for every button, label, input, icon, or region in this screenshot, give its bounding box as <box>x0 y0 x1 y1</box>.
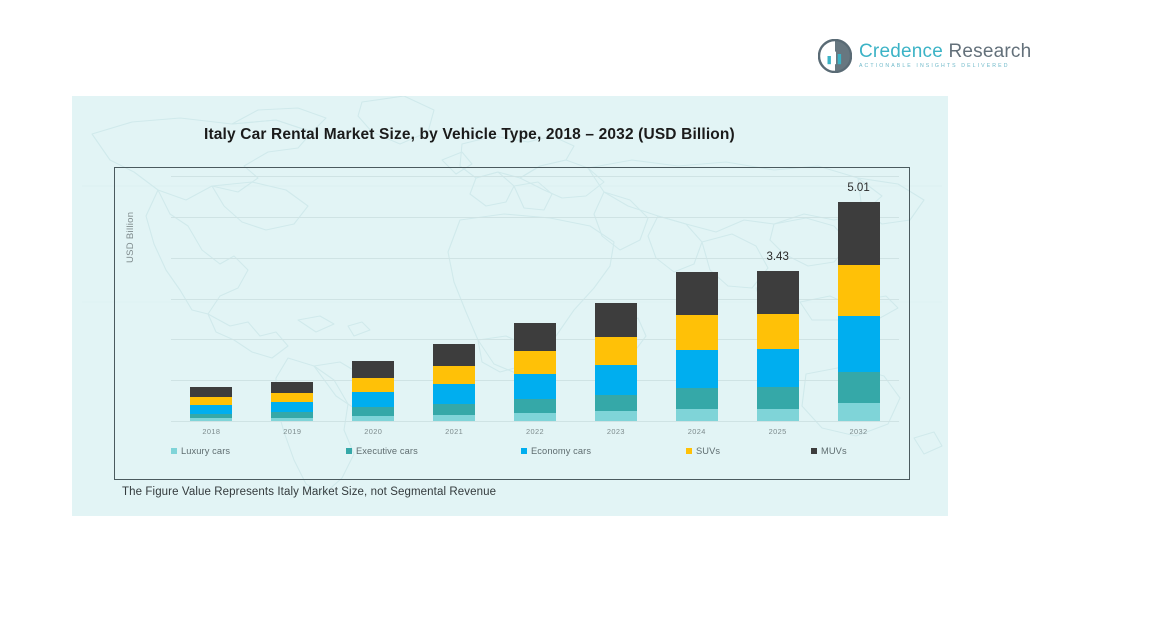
bar-segment-luxury-cars[interactable] <box>190 418 232 421</box>
legend-swatch-icon <box>171 448 177 454</box>
chart-panel: Italy Car Rental Market Size, by Vehicle… <box>72 96 948 516</box>
bar-segment-luxury-cars[interactable] <box>676 409 718 421</box>
x-axis-tick-2023: 2023 <box>576 427 656 436</box>
bar-group[interactable]: 2024 <box>676 176 718 421</box>
bar-segment-suvs[interactable] <box>514 351 556 374</box>
bar-segment-economy-cars[interactable] <box>514 374 556 399</box>
bar-segment-luxury-cars[interactable] <box>595 411 637 421</box>
brand-logo: Credence Research Actionable Insights De… <box>818 36 1018 76</box>
bar-segment-executive-cars[interactable] <box>514 399 556 413</box>
legend-label: SUVs <box>696 446 720 456</box>
x-axis-tick-2020: 2020 <box>333 427 413 436</box>
bar-segment-economy-cars[interactable] <box>838 316 880 372</box>
chart-legend: Luxury carsExecutive carsEconomy carsSUV… <box>171 446 911 466</box>
legend-swatch-icon <box>811 448 817 454</box>
bar-segment-muvs[interactable] <box>838 202 880 265</box>
y-axis-label: USD Billion <box>125 212 136 263</box>
bar-segment-muvs[interactable] <box>433 344 475 366</box>
legend-swatch-icon <box>521 448 527 454</box>
bar-segment-economy-cars[interactable] <box>595 365 637 395</box>
stacked-bar[interactable] <box>514 323 556 421</box>
bar-segment-executive-cars[interactable] <box>757 387 799 408</box>
bar-value-label: 5.01 <box>819 182 899 194</box>
logo-name-credence: Credence <box>859 41 943 62</box>
bar-segment-suvs[interactable] <box>757 314 799 349</box>
x-axis-tick-2018: 2018 <box>171 427 251 436</box>
bar-segment-economy-cars[interactable] <box>352 392 394 407</box>
bar-segment-muvs[interactable] <box>757 271 799 314</box>
bar-segment-suvs[interactable] <box>190 397 232 405</box>
bar-segment-muvs[interactable] <box>676 272 718 315</box>
gridline <box>171 421 899 422</box>
legend-item-luxury-cars[interactable]: Luxury cars <box>171 446 230 456</box>
legend-swatch-icon <box>686 448 692 454</box>
bar-group[interactable]: 2019 <box>271 176 313 421</box>
bar-segment-muvs[interactable] <box>190 387 232 397</box>
stacked-bar[interactable] <box>190 387 232 421</box>
bar-segment-suvs[interactable] <box>433 366 475 384</box>
stacked-bar[interactable] <box>352 361 394 421</box>
bar-segment-luxury-cars[interactable] <box>757 409 799 421</box>
legend-label: MUVs <box>821 446 847 456</box>
bar-segment-luxury-cars[interactable] <box>514 413 556 421</box>
bar-segment-executive-cars[interactable] <box>676 388 718 409</box>
x-axis-tick-2019: 2019 <box>252 427 332 436</box>
stacked-bar[interactable] <box>433 344 475 421</box>
bar-segment-economy-cars[interactable] <box>190 405 232 414</box>
bar-segment-luxury-cars[interactable] <box>433 415 475 421</box>
stacked-bar[interactable] <box>757 271 799 421</box>
bar-segment-luxury-cars[interactable] <box>352 416 394 421</box>
x-axis-tick-2024: 2024 <box>657 427 737 436</box>
stacked-bar[interactable] <box>676 272 718 421</box>
bar-segment-luxury-cars[interactable] <box>838 403 880 421</box>
bar-segment-muvs[interactable] <box>595 303 637 337</box>
legend-label: Economy cars <box>531 446 591 456</box>
x-axis-tick-2021: 2021 <box>414 427 494 436</box>
bar-group[interactable]: 2022 <box>514 176 556 421</box>
bar-segment-muvs[interactable] <box>352 361 394 379</box>
legend-swatch-icon <box>346 448 352 454</box>
bar-segment-muvs[interactable] <box>271 382 313 393</box>
bar-segment-suvs[interactable] <box>838 265 880 316</box>
bar-segment-economy-cars[interactable] <box>271 402 313 412</box>
bar-group[interactable]: 2023 <box>595 176 637 421</box>
legend-item-muvs[interactable]: MUVs <box>811 446 847 456</box>
x-axis-tick-2022: 2022 <box>495 427 575 436</box>
bar-segment-executive-cars[interactable] <box>838 372 880 403</box>
legend-item-suvs[interactable]: SUVs <box>686 446 720 456</box>
bar-group[interactable]: 2021 <box>433 176 475 421</box>
bar-group[interactable]: 2020 <box>352 176 394 421</box>
credence-bar-chart-icon <box>818 39 852 73</box>
stacked-bar[interactable] <box>838 202 880 421</box>
bar-segment-luxury-cars[interactable] <box>271 418 313 421</box>
logo-tagline: Actionable Insights Delivered <box>859 64 1031 69</box>
x-axis-tick-2032: 2032 <box>819 427 899 436</box>
bar-segment-economy-cars[interactable] <box>433 384 475 404</box>
bar-segment-suvs[interactable] <box>676 315 718 350</box>
bar-segment-executive-cars[interactable] <box>595 395 637 412</box>
chart-footnote: The Figure Value Represents Italy Market… <box>122 486 496 498</box>
bar-segment-suvs[interactable] <box>271 393 313 402</box>
logo-name-research: Research <box>943 41 1031 62</box>
bar-group[interactable]: 3.432025 <box>757 176 799 421</box>
bar-segment-muvs[interactable] <box>514 323 556 351</box>
x-axis-tick-2025: 2025 <box>738 427 818 436</box>
logo-wordmark: Credence Research Actionable Insights De… <box>859 42 1031 69</box>
bar-value-label: 3.43 <box>738 251 818 263</box>
chart-frame: USD Billion 2018201920202021202220232024… <box>114 167 910 480</box>
bar-group[interactable]: 5.012032 <box>838 176 880 421</box>
legend-item-executive-cars[interactable]: Executive cars <box>346 446 418 456</box>
bar-segment-executive-cars[interactable] <box>352 407 394 416</box>
bar-segment-executive-cars[interactable] <box>433 404 475 415</box>
logo-company-name: Credence Research <box>859 42 1031 61</box>
legend-label: Luxury cars <box>181 446 230 456</box>
stacked-bar[interactable] <box>271 382 313 421</box>
bar-segment-economy-cars[interactable] <box>757 349 799 387</box>
chart-title: Italy Car Rental Market Size, by Vehicle… <box>204 126 735 144</box>
bar-segment-economy-cars[interactable] <box>676 350 718 388</box>
bar-segment-suvs[interactable] <box>595 337 637 365</box>
stacked-bar[interactable] <box>595 303 637 421</box>
plot-area: 20182019202020212022202320243.4320255.01… <box>171 176 899 421</box>
bar-segment-suvs[interactable] <box>352 378 394 392</box>
bar-group[interactable]: 2018 <box>190 176 232 421</box>
legend-item-economy-cars[interactable]: Economy cars <box>521 446 591 456</box>
legend-label: Executive cars <box>356 446 418 456</box>
